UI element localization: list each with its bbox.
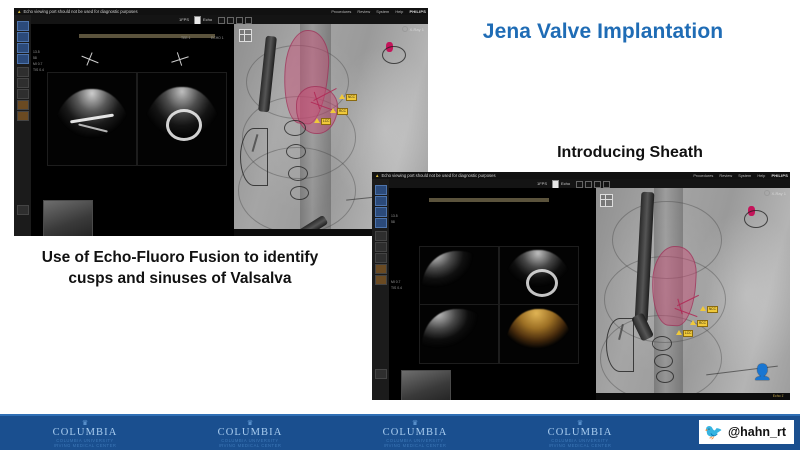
menu-item-procedures[interactable]: Procedures <box>693 173 713 178</box>
crown-icon: ♛ <box>505 420 655 427</box>
xray-status-dot <box>764 190 770 196</box>
toolbar-toggle-a[interactable] <box>576 181 583 188</box>
cusp-marker-ncc <box>339 94 345 99</box>
tool-icon-annotate[interactable] <box>17 78 29 88</box>
tool-icon-measure[interactable] <box>17 67 29 77</box>
menu-item-procedures[interactable]: Procedures <box>331 9 351 14</box>
warning-text: Echo viewing port should not be used for… <box>23 9 137 14</box>
echo-left-view-label: TEE 1 <box>181 36 190 40</box>
echo-mode-label-bottom: Echo <box>561 180 570 187</box>
tool-icon-marker[interactable] <box>375 264 387 274</box>
echo-gain-label-bottom: 58 <box>391 220 395 224</box>
console-side-rail-bottom <box>372 179 390 400</box>
twitter-bird-icon: 🐦 <box>704 425 723 440</box>
echo-gain-label: 58 <box>33 56 37 60</box>
echo-quad-view-2[interactable] <box>499 246 579 306</box>
columbia-wordmark: COLUMBIA <box>10 427 160 438</box>
philips-brand: PHILIPS <box>409 9 426 14</box>
layout-icon-1[interactable] <box>17 21 29 31</box>
fusion-caption: Use of Echo-Fluoro Fusion to identify cu… <box>22 248 338 290</box>
cusp-marker-lcc <box>314 118 320 123</box>
slide-footer: ♛ COLUMBIA COLUMBIA UNIVERSITY IRVING ME… <box>0 414 800 450</box>
cusp-label-ncc-bottom: NCC <box>707 306 718 313</box>
philips-brand: PHILIPS <box>771 173 788 178</box>
toolbar-toggle-c[interactable] <box>594 181 601 188</box>
menu-item-system[interactable]: System <box>376 9 389 14</box>
toolbar-toggle-a[interactable] <box>218 17 225 24</box>
echo-right-view-label: ECHO 1 <box>211 36 224 40</box>
annuloplasty-ring-bottom <box>744 210 768 228</box>
tool-icon-export[interactable] <box>17 111 29 121</box>
page-title: Jena Valve Implantation <box>438 20 768 44</box>
annuloplasty-ring <box>382 46 406 64</box>
warning-triangle-icon: ▲ <box>17 9 21 14</box>
fluoro-pane-bottom[interactable]: X-Ray 1 NCC RCC LCC 👤 Echo 1' <box>596 188 790 400</box>
echo-fluoro-console-top: ▲Echo viewing port should not be used fo… <box>14 8 428 236</box>
echo-mi-label: MI 0.7 <box>33 62 42 66</box>
xray-tag-top: X-Ray 1 <box>402 26 424 32</box>
cusp-label-ncc: NCC <box>346 94 357 101</box>
echo-thumbnail-bottom[interactable] <box>401 370 451 400</box>
menu-item-system[interactable]: System <box>738 173 751 178</box>
xray-tag-bottom: X-Ray 1 <box>764 190 786 196</box>
console-side-rail-top <box>14 15 32 236</box>
toolbar-toggle-d[interactable] <box>245 17 252 24</box>
echo-view-long-axis[interactable] <box>47 72 137 166</box>
echo-crosshair-right <box>171 52 189 66</box>
warning-triangle-icon: ▲ <box>375 173 379 178</box>
columbia-logo-3: ♛ COLUMBIA COLUMBIA UNIVERSITY IRVING ME… <box>340 420 490 448</box>
columbia-sub-2: IRVING MEDICAL CENTER <box>10 443 160 448</box>
sternal-wire-3 <box>288 166 308 181</box>
twitter-handle-text: @hahn_rt <box>728 425 786 439</box>
echo-quad-view-3[interactable] <box>419 304 499 364</box>
twitter-handle-badge[interactable]: 🐦 @hahn_rt <box>699 420 794 444</box>
toolbar-toggle-d[interactable] <box>603 181 610 188</box>
echo-mode-label-top: Echo <box>203 16 212 23</box>
menu-item-review[interactable]: Review <box>719 173 732 178</box>
aortic-ring-q2 <box>526 269 558 297</box>
echo-depth-label: 13.5 <box>33 50 40 54</box>
toolbar-toggle-c[interactable] <box>236 17 243 24</box>
cusp-label-lcc: LCC <box>321 118 331 125</box>
guide-catheter <box>240 128 268 186</box>
console-menu-top: Procedures Review System Help PHILIPS <box>326 8 426 15</box>
cusp-marker-ncc-bottom <box>700 306 706 311</box>
sternal-wire-2 <box>286 144 306 159</box>
echo-tis-label-bottom: TIS 0.4 <box>391 286 402 290</box>
fps-label-top: 1FPS <box>179 16 189 23</box>
columbia-wordmark: COLUMBIA <box>340 427 490 438</box>
fluoro-statusbar-bottom: Echo 1' <box>596 393 790 400</box>
footer-accent-line <box>0 414 800 416</box>
columbia-sub-2: IRVING MEDICAL CENTER <box>340 443 490 448</box>
columbia-sub-2: IRVING MEDICAL CENTER <box>175 443 325 448</box>
echo-pane-bottom: 13.5 58 MI 0.7 TIS 0.4 <box>389 188 596 400</box>
tool-icon-marker[interactable] <box>17 100 29 110</box>
echo-header-strip-bottom <box>429 198 549 202</box>
xray-status-dot <box>402 26 408 32</box>
warning-text-bottom: Echo viewing port should not be used for… <box>381 173 495 178</box>
columbia-logo-1: ♛ COLUMBIA COLUMBIA UNIVERSITY IRVING ME… <box>10 420 160 448</box>
columbia-wordmark: COLUMBIA <box>175 427 325 438</box>
tool-icon-measure[interactable] <box>375 231 387 241</box>
cusp-marker-rcc <box>330 108 336 113</box>
grid-layout-icon[interactable] <box>239 29 252 42</box>
cusp-marker-lcc-bottom <box>676 330 682 335</box>
cusp-marker-rcc-bottom <box>690 320 696 325</box>
fluoro-status-text-bottom: Echo 1' <box>773 393 784 400</box>
echo-thumbnail[interactable] <box>43 200 93 236</box>
layout-icon-2[interactable] <box>17 32 29 42</box>
echo-pane-top: 13.5 58 MI 0.7 TIS 0.4 TEE 1 ECHO 1 <box>31 24 234 236</box>
echo-view-short-axis[interactable] <box>137 72 227 166</box>
columbia-wordmark: COLUMBIA <box>505 427 655 438</box>
patient-orientation-icon: 👤 <box>753 365 772 380</box>
echo-quad-view-1[interactable] <box>419 246 499 306</box>
echo-fluoro-console-bottom: ▲Echo viewing port should not be used fo… <box>372 172 790 400</box>
sternal-wire-b1 <box>652 336 672 351</box>
ultrasound-sector-q3 <box>422 309 494 361</box>
layout-icon-3[interactable] <box>375 207 387 217</box>
console-menu-bottom: Procedures Review System Help PHILIPS <box>688 172 788 179</box>
ultrasound-sector-q1 <box>422 251 494 303</box>
echo-quad-view-4-3d[interactable] <box>499 304 579 364</box>
sheath-annotation-label: Introducing Sheath <box>520 144 740 162</box>
layout-icon-4[interactable] <box>375 218 387 228</box>
crown-icon: ♛ <box>175 420 325 427</box>
tool-icon-contrast[interactable] <box>17 89 29 99</box>
columbia-sub-2: IRVING MEDICAL CENTER <box>505 443 655 448</box>
tool-icon-settings[interactable] <box>375 369 387 379</box>
columbia-logo-2: ♛ COLUMBIA COLUMBIA UNIVERSITY IRVING ME… <box>175 420 325 448</box>
columbia-logo-4: ♛ COLUMBIA COLUMBIA UNIVERSITY IRVING ME… <box>505 420 655 448</box>
sternal-wire-4 <box>290 186 309 200</box>
menu-item-review[interactable]: Review <box>357 9 370 14</box>
menu-item-help[interactable]: Help <box>395 9 403 14</box>
echo-mi-label-bottom: MI 0.7 <box>391 280 400 284</box>
toolbar-toggle-b[interactable] <box>585 181 592 188</box>
sternal-wire-1 <box>284 120 306 136</box>
crown-icon: ♛ <box>340 420 490 427</box>
grid-layout-icon[interactable] <box>600 194 613 207</box>
layout-icon-1[interactable] <box>375 185 387 195</box>
cusp-label-rcc-bottom: RCC <box>697 320 708 327</box>
echo-crosshair-left <box>81 52 99 66</box>
layout-icon-4[interactable] <box>17 54 29 64</box>
cusp-label-rcc: RCC <box>337 108 348 115</box>
crown-icon: ♛ <box>10 420 160 427</box>
ultrasound-3d-sector-q4 <box>506 309 572 361</box>
menu-item-help[interactable]: Help <box>757 173 765 178</box>
tool-icon-export[interactable] <box>375 275 387 285</box>
cusp-label-lcc-bottom: LCC <box>683 330 693 337</box>
layout-icon-2[interactable] <box>375 196 387 206</box>
tool-icon-annotate[interactable] <box>375 242 387 252</box>
echo-header-strip <box>79 34 215 38</box>
layout-icon-3[interactable] <box>17 43 29 53</box>
aortic-valve-ring-echo <box>166 109 202 141</box>
fps-label-bottom: 1FPS <box>537 180 547 187</box>
echo-depth-label-bottom: 13.5 <box>391 214 398 218</box>
toolbar-toggle-b[interactable] <box>227 17 234 24</box>
echo-tis-label: TIS 0.4 <box>33 68 44 72</box>
tool-icon-contrast[interactable] <box>375 253 387 263</box>
sternal-wire-b3 <box>656 370 674 383</box>
tool-icon-settings[interactable] <box>17 205 29 215</box>
guide-catheter-bottom <box>606 318 634 372</box>
sternal-wire-b2 <box>654 354 673 368</box>
